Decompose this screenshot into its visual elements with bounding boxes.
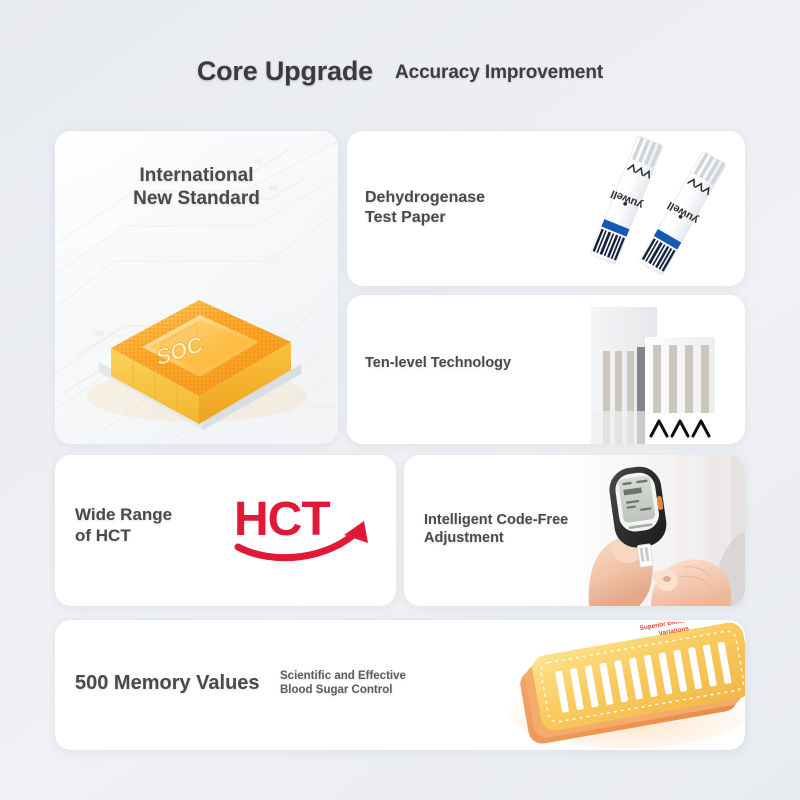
card-intelligent-code-free-adjustment[interactable]: Intelligent Code-Free Adjustment: [404, 455, 745, 606]
test-strips-image: yuwell: [577, 131, 737, 286]
page-header: Core Upgrade Accuracy Improvement: [0, 56, 800, 102]
card-ten-level-technology[interactable]: Ten-level Technology: [347, 295, 745, 444]
card-label-wide-range-of-hct: Wide Range of HCT: [75, 505, 172, 546]
card-dehydrogenase-test-paper[interactable]: Dehydrogenase Test Paper: [347, 131, 745, 286]
card-label-dehydrogenase-test-paper: Dehydrogenase Test Paper: [365, 188, 485, 227]
card-500-memory-values[interactable]: 500 Memory Values Scientific and Effecti…: [55, 620, 745, 750]
card-wide-range-of-hct[interactable]: Wide Range of HCT HCT: [55, 455, 396, 606]
card-label-international-new-standard: International New Standard: [55, 164, 338, 210]
card-label-ten-level-technology: Ten-level Technology: [365, 355, 511, 373]
card-label-500-memory-values: 500 Memory Values: [75, 671, 260, 695]
front-strip: [645, 337, 715, 444]
memory-card-strips-image: Superior Blood Sugar Variations: [500, 622, 745, 750]
soc-chip-image: SOC: [69, 236, 324, 431]
card-label-intelligent-code-free-adjustment: Intelligent Code-Free Adjustment: [424, 512, 568, 547]
strip-contacts-closeup-image: [589, 299, 719, 444]
page-title: Core Upgrade: [197, 56, 373, 87]
infographic-page: Core Upgrade Accuracy Improvement: [0, 0, 800, 800]
card-sublabel-blood-sugar-control: Scientific and Effective Blood Sugar Con…: [280, 670, 406, 697]
hands-holding-glucometer-photo: [555, 455, 745, 606]
hct-arrow-logo: HCT: [232, 485, 382, 565]
hct-logo-text: HCT: [234, 493, 330, 546]
page-subtitle: Accuracy Improvement: [395, 62, 603, 84]
card-international-new-standard[interactable]: International New Standard: [55, 131, 338, 444]
